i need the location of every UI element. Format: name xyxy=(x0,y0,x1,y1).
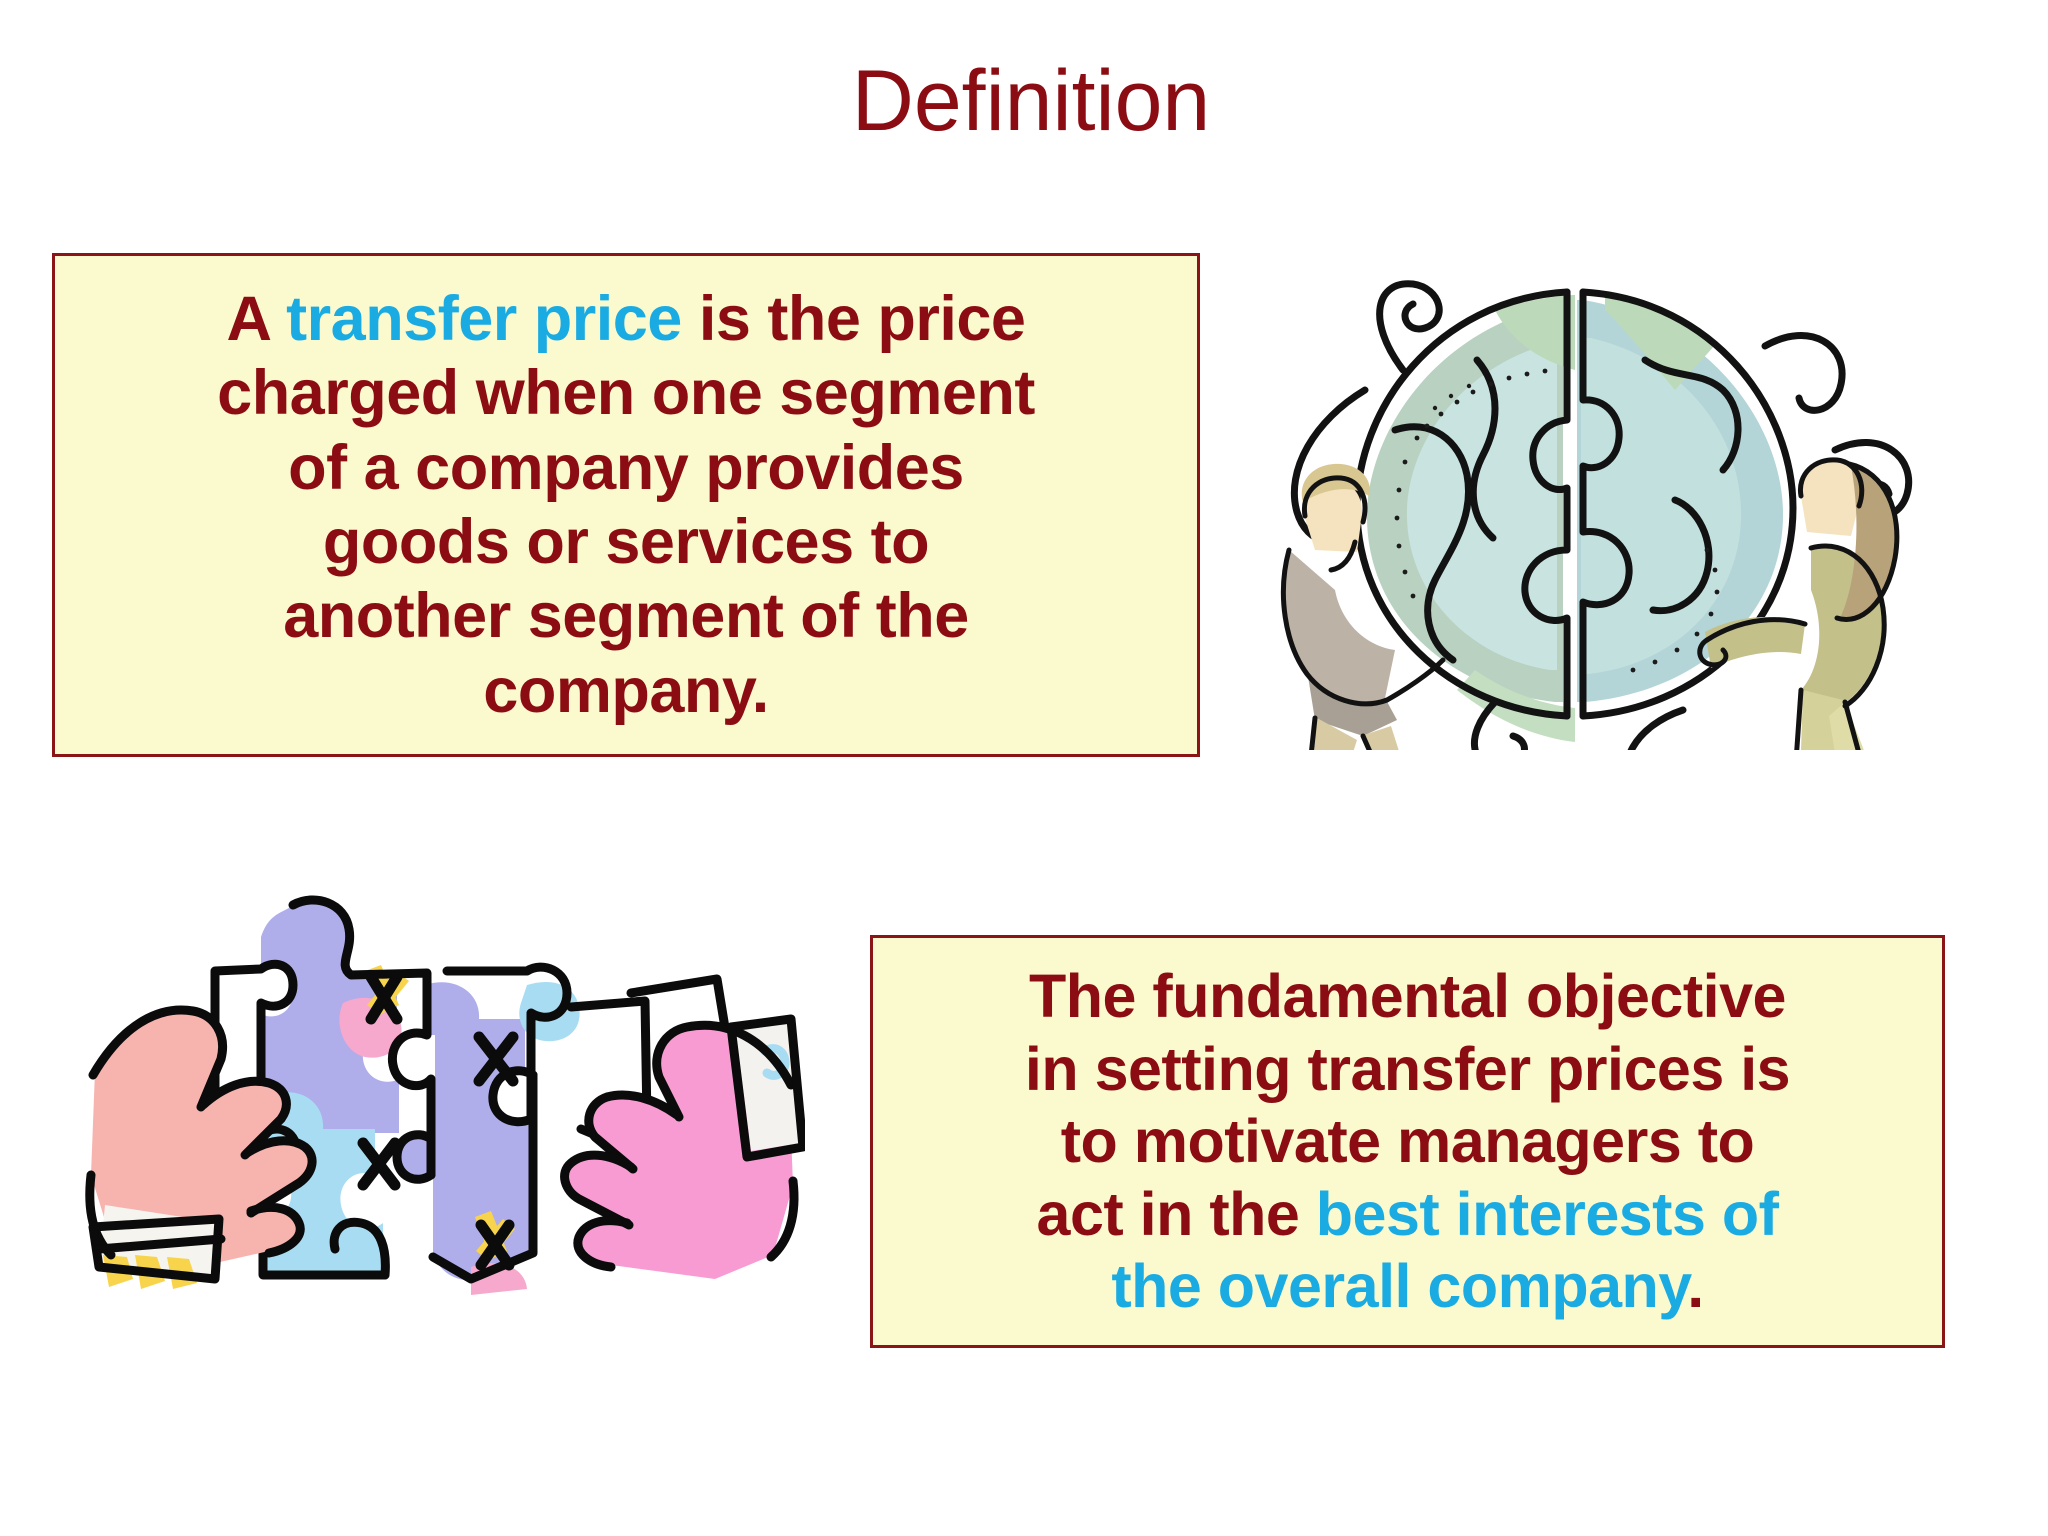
globe-puzzle-clipart xyxy=(1245,250,1945,750)
hand-right xyxy=(565,1019,803,1279)
page-title-text: Definition xyxy=(852,58,1211,144)
objective-line-5: the overall company. xyxy=(889,1250,1926,1323)
objective-l4-s1: act in the xyxy=(1037,1180,1316,1248)
definition-highlight-transfer-price: transfer price xyxy=(286,284,682,354)
definition-callout-box: A transfer price is the price charged wh… xyxy=(52,253,1200,757)
definition-line-3: of a company provides xyxy=(71,431,1181,505)
objective-line-4: act in the best interests of xyxy=(889,1178,1926,1251)
slide-canvas: Definition A transfer price is the price… xyxy=(0,0,2048,1536)
definition-l1-s1: A xyxy=(227,284,287,354)
objective-text: The fundamental objective in setting tra… xyxy=(873,960,1942,1323)
definition-text: A transfer price is the price charged wh… xyxy=(55,282,1197,728)
puzzle-hands-clipart xyxy=(75,875,805,1300)
definition-line-4: goods or services to xyxy=(71,505,1181,579)
objective-callout-box: The fundamental objective in setting tra… xyxy=(870,935,1945,1348)
puzzle-hands-svg xyxy=(75,875,805,1300)
definition-line-5: another segment of the xyxy=(71,579,1181,653)
page-title: Definition xyxy=(0,58,2048,144)
definition-line-1: A transfer price is the price xyxy=(71,282,1181,356)
objective-highlight-part-2: the overall company xyxy=(1111,1252,1687,1320)
objective-line-2: in setting transfer prices is xyxy=(889,1033,1926,1106)
definition-line-2: charged when one segment xyxy=(71,356,1181,430)
objective-l5-period: . xyxy=(1687,1252,1703,1320)
objective-line-3: to motivate managers to xyxy=(889,1105,1926,1178)
definition-l1-s3: is the price xyxy=(682,284,1026,354)
definition-line-6: company. xyxy=(71,654,1181,728)
objective-line-1: The fundamental objective xyxy=(889,960,1926,1033)
objective-highlight-part-1: best interests of xyxy=(1316,1180,1779,1248)
globe-puzzle-svg xyxy=(1245,250,1945,750)
